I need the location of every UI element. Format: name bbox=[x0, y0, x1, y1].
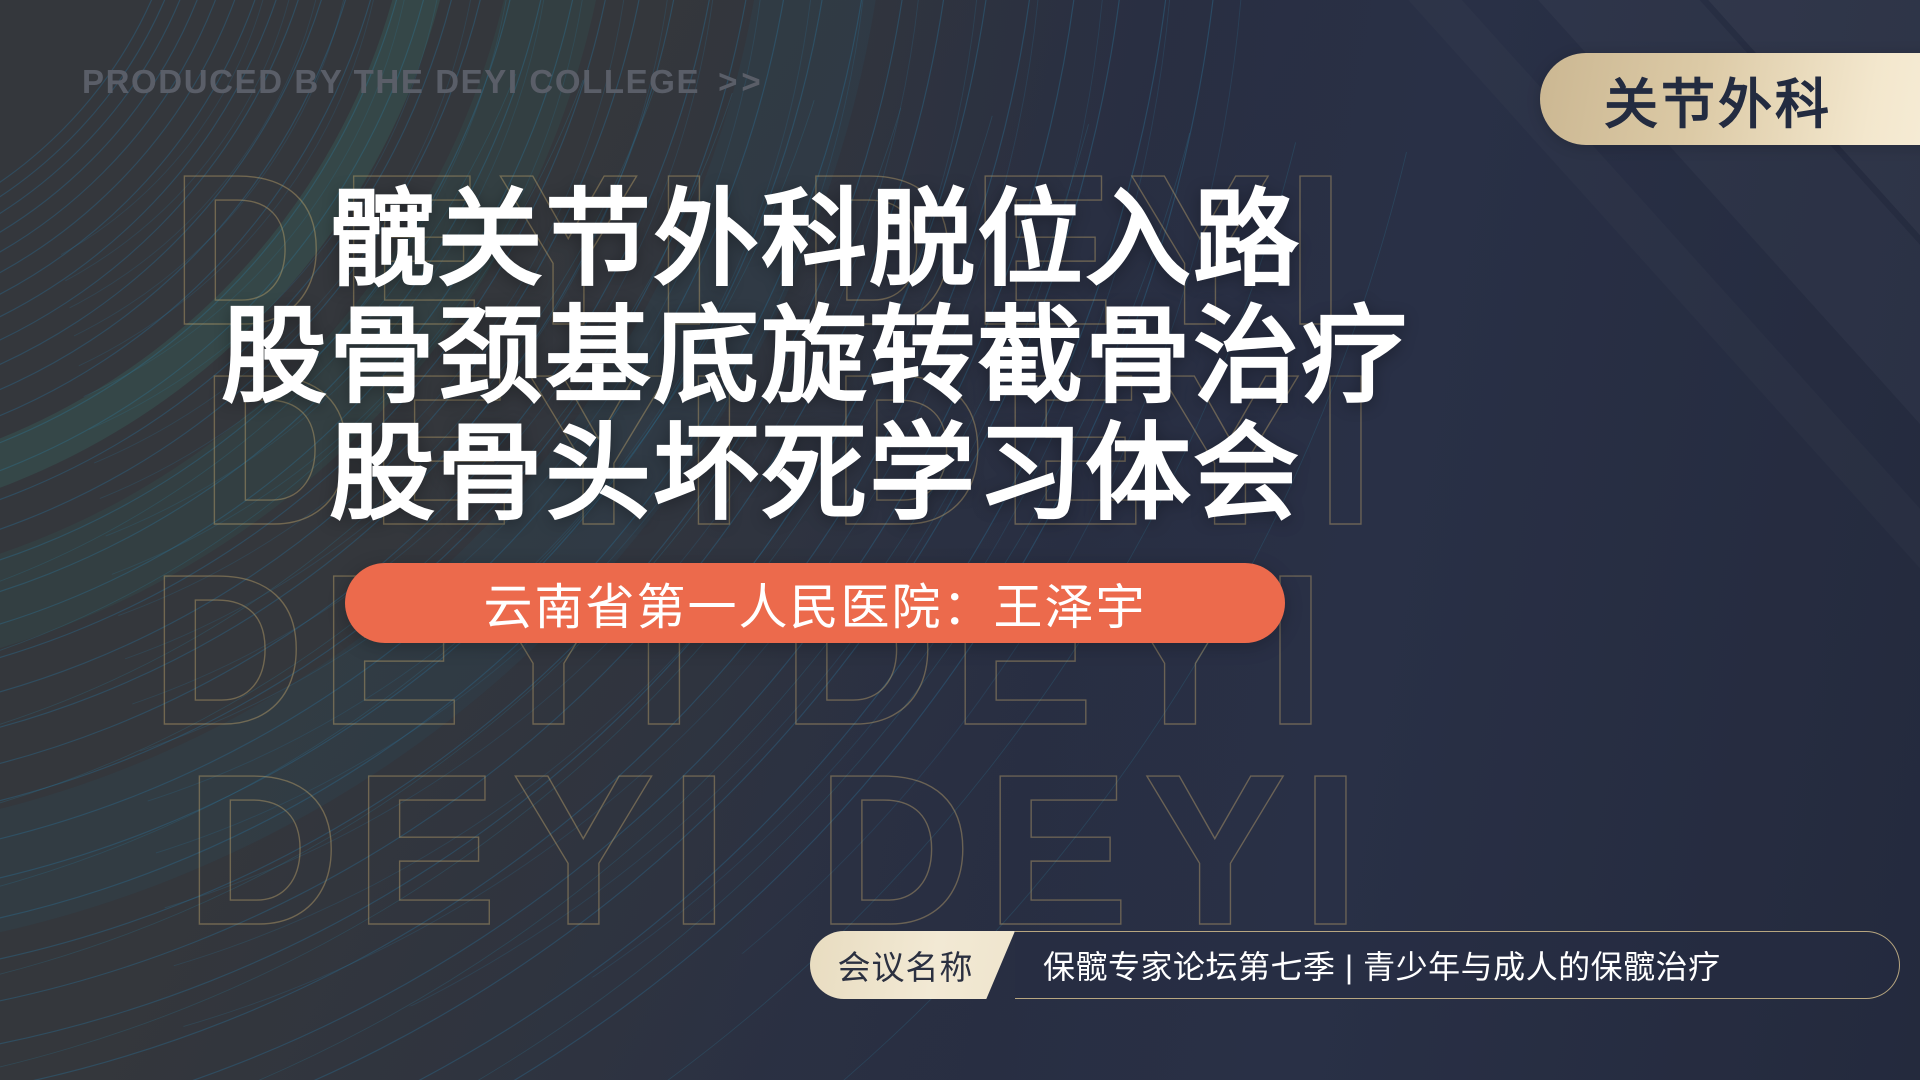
department-badge-label: 关节外科 bbox=[1604, 60, 1832, 139]
conference-name-label: 保髋专家论坛第七季 | 青少年与成人的保髋治疗 bbox=[1043, 942, 1721, 988]
poster-canvas: DEYI DEYI DEYI DEYI DEYI DEYI DEYI DEYI … bbox=[0, 0, 1920, 1080]
title-line-2: 股骨颈基底旋转截骨治疗 bbox=[0, 299, 1630, 416]
title-line-1: 髋关节外科脱位入路 bbox=[0, 182, 1630, 299]
speaker-pill-wrapper: 云南省第一人民医院：王泽宇 bbox=[0, 563, 1630, 643]
conference-tab-label: 会议名称 bbox=[838, 941, 974, 989]
produced-by-label: PRODUCED BY THE DEYI COLLEGE>> bbox=[82, 63, 765, 101]
produced-by-text: PRODUCED BY THE DEYI COLLEGE bbox=[82, 63, 700, 100]
chevron-right-icon: >> bbox=[718, 63, 765, 100]
conference-tab: 会议名称 bbox=[810, 931, 1015, 999]
speaker-label: 云南省第一人民医院：王泽宇 bbox=[483, 568, 1146, 639]
speaker-pill: 云南省第一人民医院：王泽宇 bbox=[345, 563, 1285, 643]
background-arc-lines bbox=[0, 0, 1920, 1080]
title-line-3: 股骨头坏死学习体会 bbox=[0, 416, 1630, 533]
page-title: 髋关节外科脱位入路 股骨颈基底旋转截骨治疗 股骨头坏死学习体会 bbox=[0, 182, 1630, 533]
department-badge: 关节外科 bbox=[1540, 53, 1920, 145]
conference-bar: 会议名称 保髋专家论坛第七季 | 青少年与成人的保髋治疗 bbox=[810, 931, 1900, 999]
conference-name-panel: 保髋专家论坛第七季 | 青少年与成人的保髋治疗 bbox=[1015, 931, 1900, 999]
